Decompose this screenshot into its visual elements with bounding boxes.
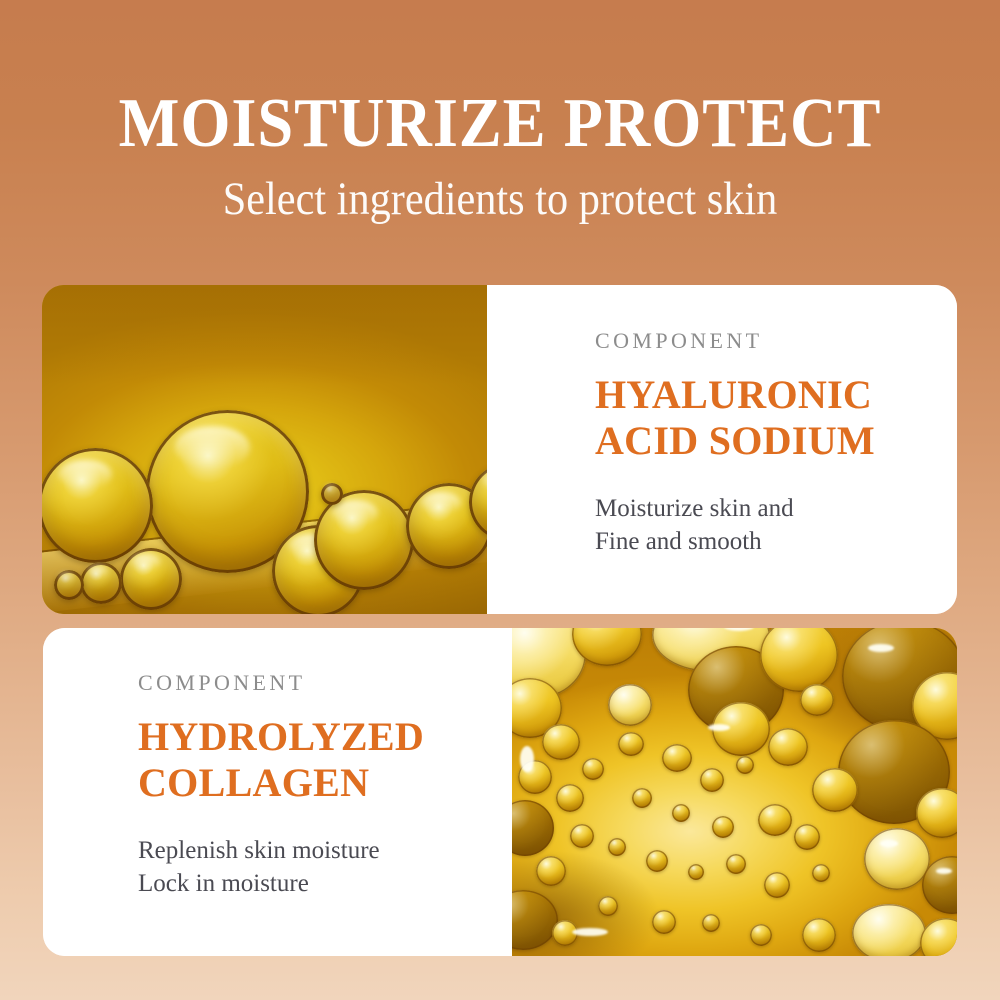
oil-bubble	[542, 724, 580, 760]
oil-bubble	[736, 756, 754, 774]
ingredient-benefits: Replenish skin moisture Lock in moisture	[138, 834, 424, 900]
oil-bubble	[598, 896, 618, 916]
oil-bubble	[864, 828, 930, 890]
oil-bubble	[608, 838, 626, 856]
oil-bubble	[582, 758, 604, 780]
ingredient-card-hyaluronic-acid-sodium: COMPONENT HYALURONIC ACID SODIUM Moistur…	[42, 285, 957, 614]
ingredient-name: HYALURONIC ACID SODIUM	[595, 372, 875, 464]
page-subtitle: Select ingredients to protect skin	[50, 174, 950, 224]
oil-droplets-image	[42, 285, 487, 614]
card-eyebrow: COMPONENT	[138, 670, 424, 696]
card-text-panel: COMPONENT HYDROLYZED COLLAGEN Replenish …	[43, 628, 512, 956]
bubble-highlight	[708, 724, 730, 731]
bubble-highlight	[868, 644, 894, 652]
oil-bubble	[652, 910, 676, 934]
bubble-highlight	[572, 928, 608, 936]
oil-droplet	[80, 562, 122, 604]
oil-bubble	[662, 744, 692, 772]
oil-bubble	[768, 728, 808, 766]
ingredient-name: HYDROLYZED COLLAGEN	[138, 714, 424, 806]
oil-bubble	[764, 872, 790, 898]
oil-bubble	[570, 824, 594, 848]
oil-bubble	[812, 864, 830, 882]
oil-bubble	[672, 804, 690, 822]
oil-bubble	[556, 784, 584, 812]
oil-bubble	[700, 768, 724, 792]
oil-bubble	[802, 918, 836, 952]
oil-bubble	[646, 850, 668, 872]
oil-bubble	[536, 856, 566, 886]
bubble-highlight	[520, 746, 534, 772]
oil-bubble	[688, 864, 704, 880]
poster: MOISTURIZE PROTECT Select ingredients to…	[0, 0, 1000, 1000]
oil-bubble	[852, 904, 926, 956]
header: MOISTURIZE PROTECT Select ingredients to…	[0, 88, 1000, 224]
page-title: MOISTURIZE PROTECT	[40, 88, 960, 160]
oil-bubble	[712, 816, 734, 838]
oil-bubble	[726, 854, 746, 874]
bubble-highlight	[936, 868, 952, 874]
oil-bubble	[632, 788, 652, 808]
oil-bubble	[812, 768, 858, 812]
oil-droplet	[54, 570, 84, 600]
oil-bubble	[702, 914, 720, 932]
oil-droplet	[314, 490, 414, 590]
ingredient-card-hydrolyzed-collagen: COMPONENT HYDROLYZED COLLAGEN Replenish …	[43, 628, 957, 956]
oil-bubble	[608, 684, 652, 726]
oil-bubble	[618, 732, 644, 756]
oil-bubble	[794, 824, 820, 850]
oil-droplet	[120, 548, 182, 610]
ingredient-benefits: Moisturize skin and Fine and smooth	[595, 492, 875, 558]
oil-bubble	[758, 804, 792, 836]
oil-droplet	[42, 448, 153, 563]
oil-droplet	[321, 483, 343, 505]
card-text-panel: COMPONENT HYALURONIC ACID SODIUM Moistur…	[487, 285, 957, 614]
card-eyebrow: COMPONENT	[595, 328, 875, 354]
bubble-highlight	[880, 840, 898, 847]
oil-bubble	[750, 924, 772, 946]
oil-bubble	[800, 684, 834, 716]
oil-bubbles-image	[512, 628, 957, 956]
